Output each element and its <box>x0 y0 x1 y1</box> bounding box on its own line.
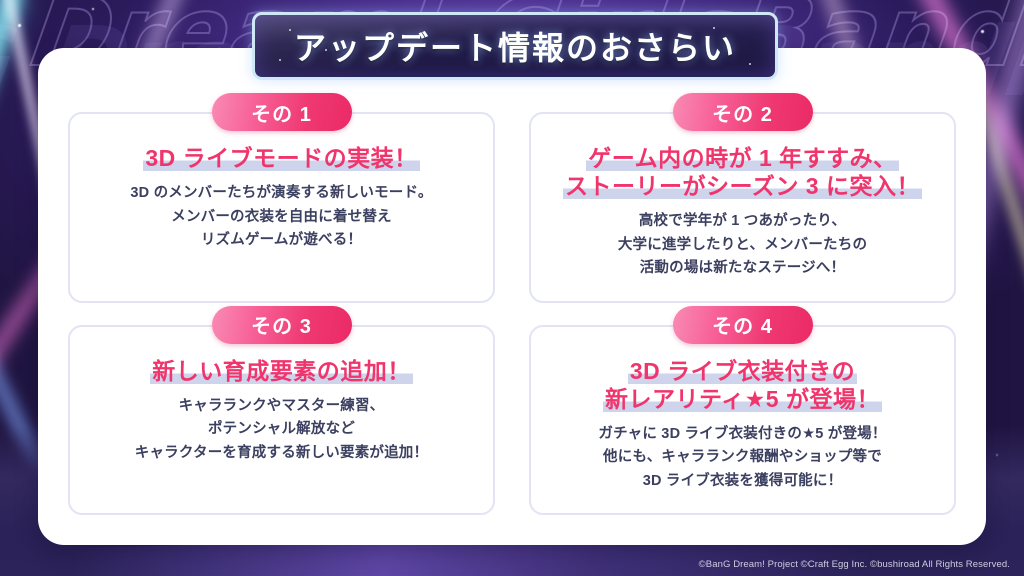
card-heading-3: 新しい育成要素の追加！ <box>150 357 413 385</box>
page-title: アップデート情報のおさらい <box>294 23 736 69</box>
card-body-line: 活動の場は新たなステージへ！ <box>618 257 867 280</box>
update-card-2-wrap: その 2 ゲーム内の時が 1 年すすみ、 ストーリーがシーズン 3 に突入！ 高… <box>529 112 956 303</box>
card-body-3: キャラランクやマスター練習、 ポテンシャル解放など キャラクターを育成する新しい… <box>135 395 428 465</box>
card-body-line: キャラランクやマスター練習、 <box>135 395 428 418</box>
card-body-line: リズムゲームが遊べる！ <box>130 229 432 252</box>
card-badge-2: その 2 <box>673 93 813 131</box>
card-body-line: キャラクターを育成する新しい要素が追加！ <box>135 442 428 465</box>
card-heading-line: 3D ライブモードの実装！ <box>143 145 419 171</box>
sparkle-dot <box>18 24 21 27</box>
card-body-line: 3D ライブ衣装を獲得可能に！ <box>598 470 886 493</box>
card-heading-line: 新しい育成要素の追加！ <box>150 358 413 384</box>
update-card-4: 3D ライブ衣装付きの 新レアリティ★5 が登場！ ガチャに 3D ライブ衣装付… <box>529 325 956 516</box>
card-heading-line: ゲーム内の時が 1 年すすみ、 <box>586 145 898 171</box>
card-body-line: 他にも、キャラランク報酬やショップ等で <box>598 446 886 469</box>
card-badge-3: その 3 <box>212 306 352 344</box>
card-heading-line: ストーリーがシーズン 3 に突入！ <box>563 173 922 199</box>
sparkle-dot <box>981 30 984 33</box>
update-card-3: 新しい育成要素の追加！ キャラランクやマスター練習、 ポテンシャル解放など キャ… <box>68 325 495 516</box>
card-heading-line: 新レアリティ★5 が登場！ <box>603 386 882 412</box>
banner-star <box>279 59 281 61</box>
update-card-2: ゲーム内の時が 1 年すすみ、 ストーリーがシーズン 3 に突入！ 高校で学年が… <box>529 112 956 303</box>
update-card-1-wrap: その 1 3D ライブモードの実装！ 3D のメンバーたちが演奏する新しいモード… <box>68 112 495 303</box>
card-heading-line: 3D ライブ衣装付きの <box>628 358 857 384</box>
card-badge-1: その 1 <box>212 93 352 131</box>
card-heading-1: 3D ライブモードの実装！ <box>143 144 419 172</box>
screenshot-root: BanG Dream! GirlsBandParty BanG Dream! G… <box>0 0 1024 576</box>
update-cards-grid: その 1 3D ライブモードの実装！ 3D のメンバーたちが演奏する新しいモード… <box>38 48 986 545</box>
card-badge-4: その 4 <box>673 306 813 344</box>
card-body-1: 3D のメンバーたちが演奏する新しいモード。 メンバーの衣装を自由に着せ替え リ… <box>130 182 432 252</box>
copyright-notice: ©BanG Dream! Project ©Craft Egg Inc. ©bu… <box>699 559 1010 570</box>
card-body-line: ガチャに 3D ライブ衣装付きの★5 が登場！ <box>598 423 886 446</box>
update-card-1: 3D ライブモードの実装！ 3D のメンバーたちが演奏する新しいモード。 メンバ… <box>68 112 495 303</box>
card-heading-4: 3D ライブ衣装付きの 新レアリティ★5 が登場！ <box>603 357 882 413</box>
card-body-line: 高校で学年が 1 つあがったり、 <box>618 210 867 233</box>
card-heading-2: ゲーム内の時が 1 年すすみ、 ストーリーがシーズン 3 に突入！ <box>563 144 922 200</box>
card-body-2: 高校で学年が 1 つあがったり、 大学に進学したりと、メンバーたちの 活動の場は… <box>618 210 867 280</box>
card-body-4: ガチャに 3D ライブ衣装付きの★5 が登場！ 他にも、キャラランク報酬やショッ… <box>598 423 886 493</box>
update-card-4-wrap: その 4 3D ライブ衣装付きの 新レアリティ★5 が登場！ ガチャに 3D ラ… <box>529 325 956 516</box>
banner-star <box>289 29 291 31</box>
update-card-3-wrap: その 3 新しい育成要素の追加！ キャラランクやマスター練習、 ポテンシャル解放… <box>68 325 495 516</box>
card-body-line: 3D のメンバーたちが演奏する新しいモード。 <box>130 182 432 205</box>
card-body-line: ポテンシャル解放など <box>135 418 428 441</box>
card-body-line: 大学に進学したりと、メンバーたちの <box>618 234 867 257</box>
sparkle-dot <box>92 8 94 10</box>
banner-star <box>749 63 751 65</box>
title-banner: アップデート情報のおさらい <box>252 12 778 80</box>
card-body-line: メンバーの衣装を自由に着せ替え <box>130 206 432 229</box>
